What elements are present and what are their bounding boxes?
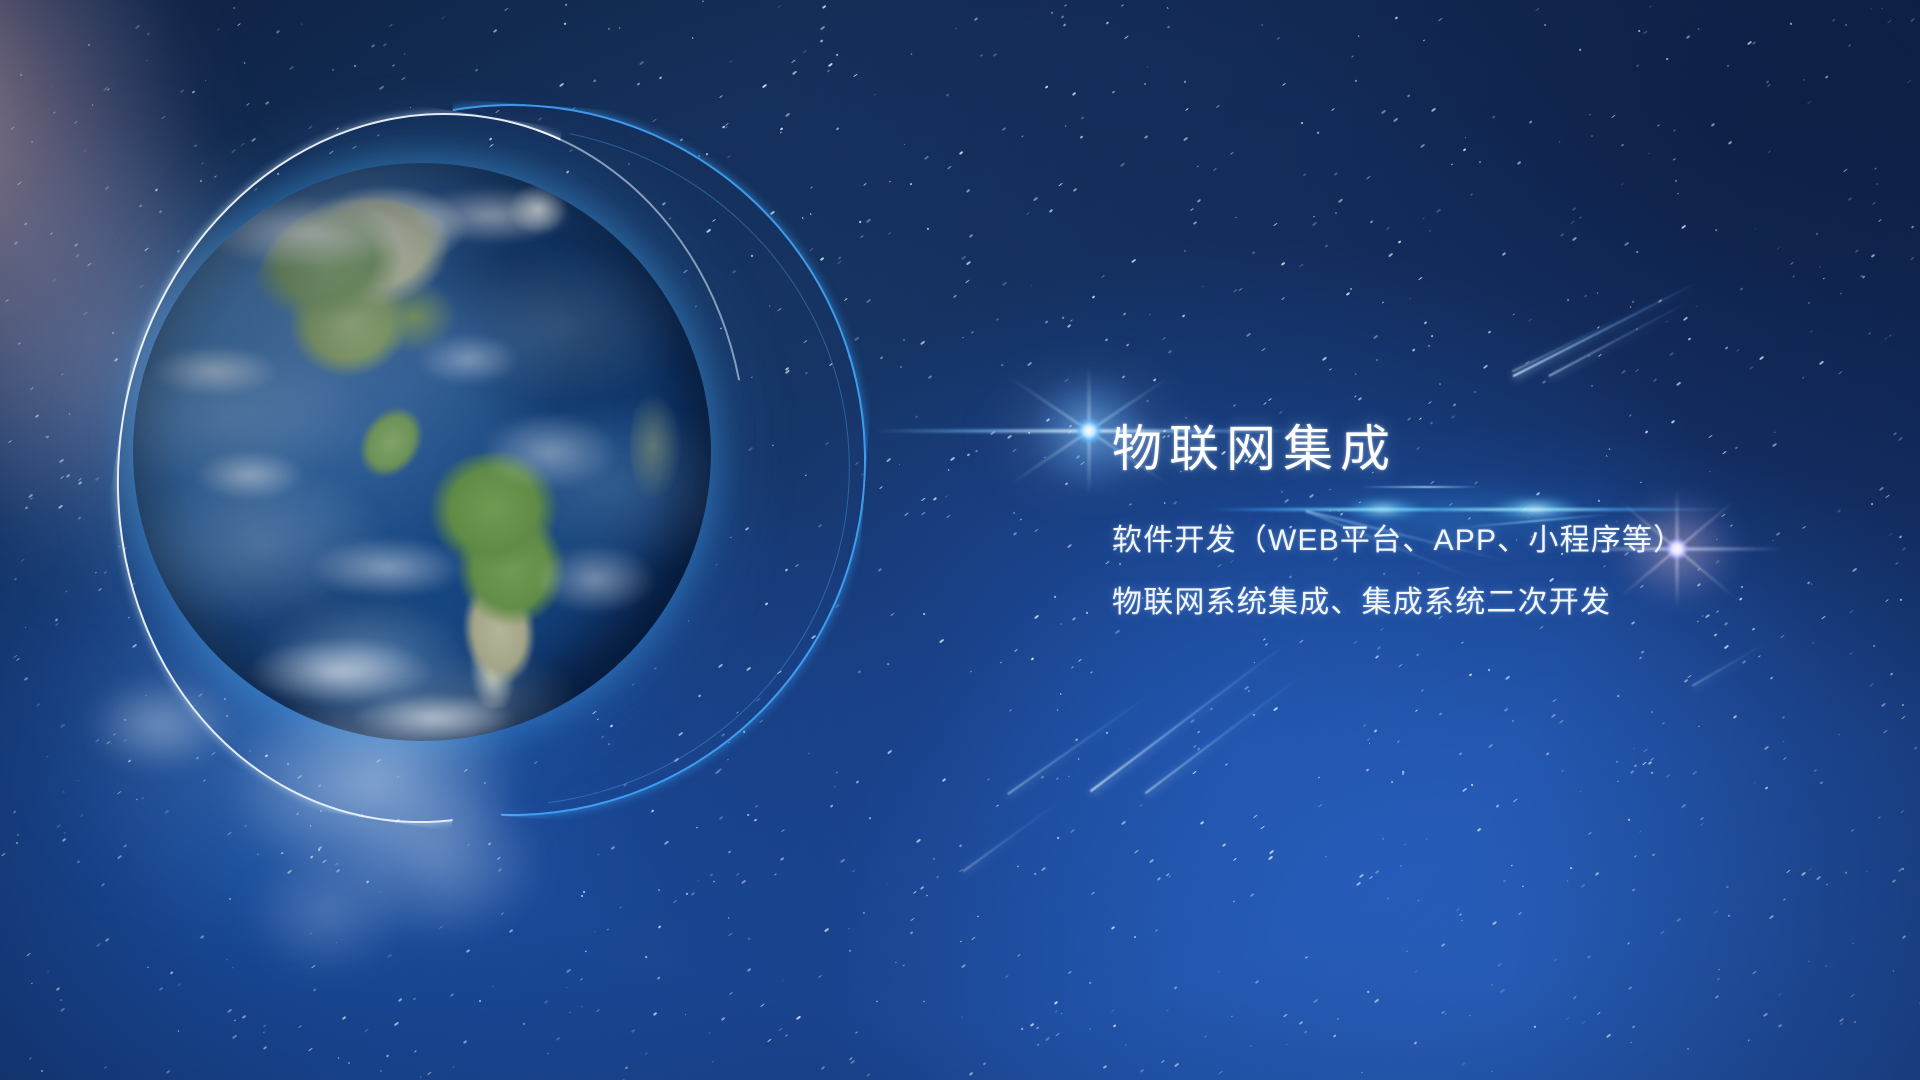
globe-rim-light xyxy=(133,163,711,741)
banner-text-block: 物联网集成 软件开发（WEB平台、APP、小程序等） 物联网系统集成、集成系统二… xyxy=(1112,424,1872,618)
globe-mist-reflection-secondary xyxy=(60,660,260,800)
banner-headline: 物联网集成 xyxy=(1112,424,1872,474)
globe-sphere xyxy=(133,163,711,741)
banner-subtitle-2: 物联网系统集成、集成系统二次开发 xyxy=(1112,588,1872,618)
banner-subtitle-1: 软件开发（WEB平台、APP、小程序等） xyxy=(1112,526,1872,556)
iot-integration-banner: 物联网集成 软件开发（WEB平台、APP、小程序等） 物联网系统集成、集成系统二… xyxy=(0,0,1920,1080)
earth-globe xyxy=(133,163,711,741)
